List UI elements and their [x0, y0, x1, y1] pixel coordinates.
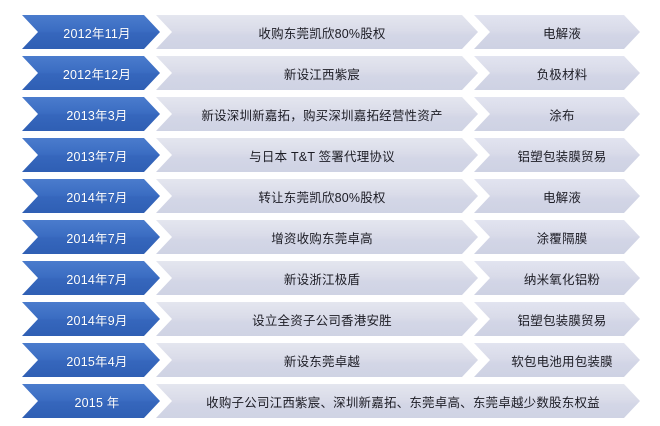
row-category-chevron[interactable]: 铝塑包装膜贸易: [474, 302, 640, 336]
timeline-row: 2015年4月 新设东莞卓越 软包电池用包装膜: [0, 343, 660, 377]
row-event-chevron[interactable]: 收购子公司江西紫宸、深圳新嘉拓、东莞卓高、东莞卓越少数股东权益: [156, 384, 640, 418]
timeline-row: 2014年7月 转让东莞凯欣80%股权 电解液: [0, 179, 660, 213]
row-category-label: 负极材料: [527, 64, 588, 83]
row-event-chevron[interactable]: 设立全资子公司香港安胜: [156, 302, 478, 336]
row-category-chevron[interactable]: 铝塑包装膜贸易: [474, 138, 640, 172]
row-event-label: 收购东莞凯欣80%股权: [248, 23, 385, 42]
row-date-chevron[interactable]: 2012年12月: [22, 56, 160, 90]
row-date-chevron[interactable]: 2014年7月: [22, 179, 160, 213]
row-date-label: 2014年7月: [54, 228, 127, 247]
row-category-chevron[interactable]: 涂覆隔膜: [474, 220, 640, 254]
row-category-label: 纳米氧化铝粉: [514, 269, 600, 288]
row-event-label: 新设浙江极盾: [274, 269, 360, 288]
row-date-label: 2014年7月: [54, 269, 127, 288]
row-category-label: 涂布: [539, 105, 574, 124]
row-event-label: 转让东莞凯欣80%股权: [248, 187, 385, 206]
timeline-diagram: 2012年11月 收购东莞凯欣80%股权 电解液 2012年12月 新设江西紫宸…: [0, 0, 660, 426]
row-date-chevron[interactable]: 2015年4月: [22, 343, 160, 377]
row-date-chevron[interactable]: 2013年3月: [22, 97, 160, 131]
row-date-chevron[interactable]: 2015 年: [22, 384, 160, 418]
row-date-label: 2013年7月: [54, 146, 127, 165]
timeline-row: 2014年9月 设立全资子公司香港安胜 铝塑包装膜贸易: [0, 302, 660, 336]
row-event-chevron[interactable]: 新设深圳新嘉拓，购买深圳嘉拓经营性资产: [156, 97, 478, 131]
row-event-label: 新设江西紫宸: [274, 64, 360, 83]
row-event-chevron[interactable]: 转让东莞凯欣80%股权: [156, 179, 478, 213]
row-date-label: 2013年3月: [54, 105, 127, 124]
row-date-label: 2014年9月: [54, 310, 127, 329]
row-event-chevron[interactable]: 与日本 T&T 签署代理协议: [156, 138, 478, 172]
row-category-label: 软包电池用包装膜: [501, 351, 613, 370]
timeline-row: 2014年7月 增资收购东莞卓高 涂覆隔膜: [0, 220, 660, 254]
timeline-row: 2013年7月 与日本 T&T 签署代理协议 铝塑包装膜贸易: [0, 138, 660, 172]
timeline-row: 2013年3月 新设深圳新嘉拓，购买深圳嘉拓经营性资产 涂布: [0, 97, 660, 131]
row-event-label: 增资收购东莞卓高: [261, 228, 373, 247]
row-date-label: 2012年12月: [51, 64, 131, 83]
row-category-chevron[interactable]: 软包电池用包装膜: [474, 343, 640, 377]
timeline-row: 2014年7月 新设浙江极盾 纳米氧化铝粉: [0, 261, 660, 295]
row-category-chevron[interactable]: 纳米氧化铝粉: [474, 261, 640, 295]
row-date-chevron[interactable]: 2013年7月: [22, 138, 160, 172]
row-date-label: 2012年11月: [51, 23, 130, 42]
row-date-label: 2014年7月: [54, 187, 127, 206]
timeline-row: 2012年12月 新设江西紫宸 负极材料: [0, 56, 660, 90]
row-event-label: 与日本 T&T 签署代理协议: [239, 146, 395, 165]
row-date-chevron[interactable]: 2014年7月: [22, 220, 160, 254]
row-category-chevron[interactable]: 电解液: [474, 179, 640, 213]
row-date-chevron[interactable]: 2012年11月: [22, 15, 160, 49]
row-category-chevron[interactable]: 涂布: [474, 97, 640, 131]
row-category-label: 电解液: [533, 23, 581, 42]
row-date-label: 2015年4月: [54, 351, 127, 370]
row-event-chevron[interactable]: 收购东莞凯欣80%股权: [156, 15, 478, 49]
row-event-chevron[interactable]: 新设江西紫宸: [156, 56, 478, 90]
row-date-chevron[interactable]: 2014年9月: [22, 302, 160, 336]
row-category-label: 铝塑包装膜贸易: [508, 146, 607, 165]
timeline-row: 2012年11月 收购东莞凯欣80%股权 电解液: [0, 15, 660, 49]
row-event-label: 新设东莞卓越: [274, 351, 360, 370]
row-event-label: 收购子公司江西紫宸、深圳新嘉拓、东莞卓高、东莞卓越少数股东权益: [196, 392, 600, 411]
row-category-label: 涂覆隔膜: [527, 228, 588, 247]
row-date-chevron[interactable]: 2014年7月: [22, 261, 160, 295]
row-category-label: 铝塑包装膜贸易: [508, 310, 607, 329]
row-event-label: 设立全资子公司香港安胜: [242, 310, 392, 329]
timeline-row: 2015 年 收购子公司江西紫宸、深圳新嘉拓、东莞卓高、东莞卓越少数股东权益: [0, 384, 660, 418]
row-category-label: 电解液: [533, 187, 581, 206]
row-event-chevron[interactable]: 新设东莞卓越: [156, 343, 478, 377]
row-event-chevron[interactable]: 增资收购东莞卓高: [156, 220, 478, 254]
row-category-chevron[interactable]: 电解液: [474, 15, 640, 49]
row-event-label: 新设深圳新嘉拓，购买深圳嘉拓经营性资产: [191, 105, 442, 124]
row-category-chevron[interactable]: 负极材料: [474, 56, 640, 90]
row-date-label: 2015 年: [63, 392, 120, 411]
row-event-chevron[interactable]: 新设浙江极盾: [156, 261, 478, 295]
